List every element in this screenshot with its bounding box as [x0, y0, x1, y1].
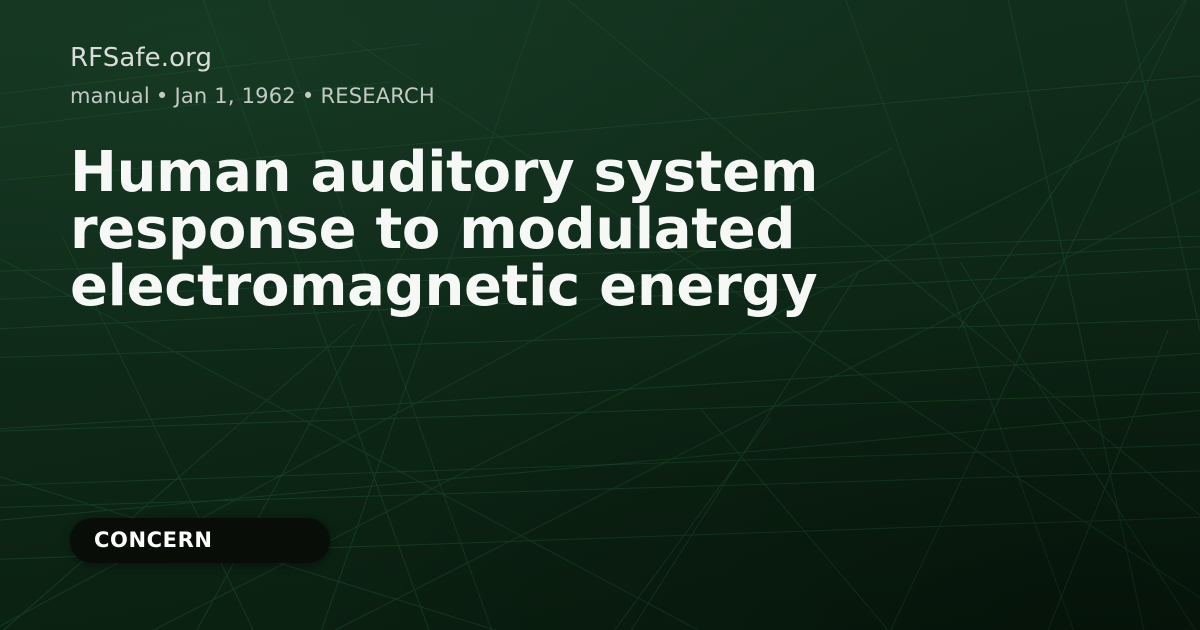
- meta-category: RESEARCH: [320, 84, 434, 108]
- meta-separator-1: •: [150, 84, 175, 108]
- site-name: RFSafe.org: [70, 42, 212, 74]
- meta-type: manual: [70, 84, 150, 108]
- meta-date: Jan 1, 1962: [174, 84, 295, 108]
- meta-line: manual•Jan 1, 1962•RESEARCH: [70, 83, 435, 110]
- status-badge: CONCERN: [70, 518, 330, 563]
- title-line: response to modulated: [70, 201, 880, 258]
- social-card: RFSafe.org manual•Jan 1, 1962•RESEARCH H…: [0, 0, 1200, 630]
- status-badge-label: CONCERN: [94, 530, 213, 551]
- title-line: Human auditory system: [70, 144, 880, 201]
- title-line: electromagnetic energy: [70, 258, 880, 315]
- meta-separator-2: •: [296, 84, 321, 108]
- page-title: Human auditory system response to modula…: [70, 144, 880, 315]
